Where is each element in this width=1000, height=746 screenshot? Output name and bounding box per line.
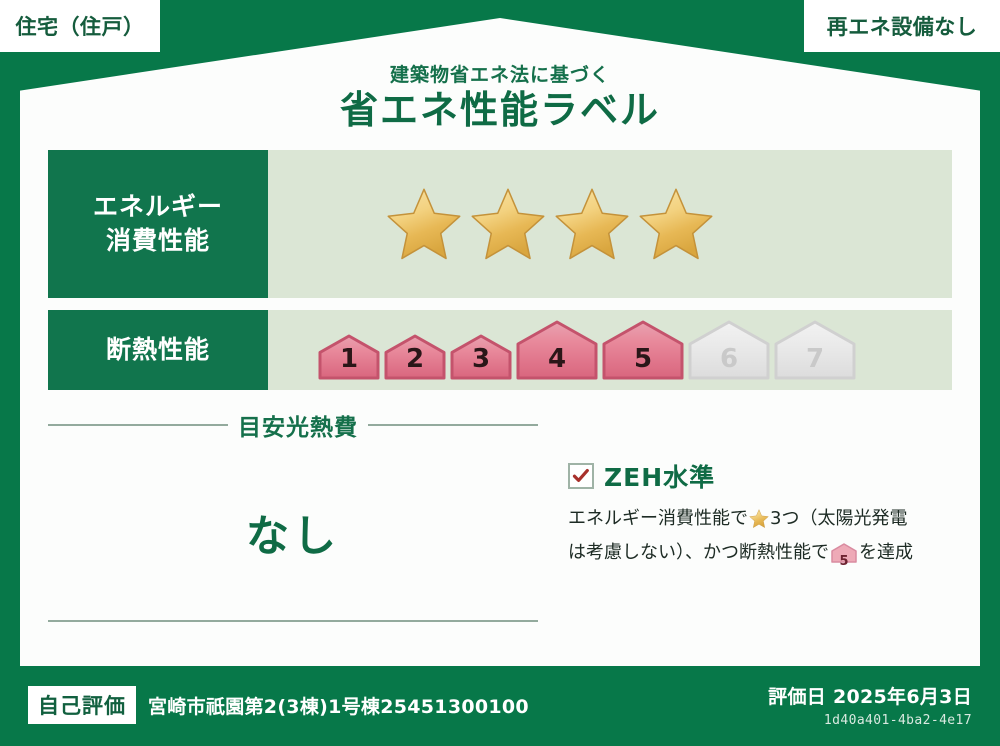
row-energy-label: エネルギー 消費性能 xyxy=(48,150,268,298)
zeh-desc-star-count: 3つ（太陽光発電 xyxy=(770,508,907,529)
title-block: 建築物省エネ法に基づく 省エネ性能ラベル xyxy=(0,60,1000,131)
star-icon xyxy=(638,187,714,261)
tag-building-type: 住宅（住戸） xyxy=(0,0,160,52)
insulation-level-4: 4 xyxy=(516,320,598,380)
insulation-level-label: 7 xyxy=(774,344,856,374)
evaluation-date: 評価日 2025年6月3日 xyxy=(768,682,972,709)
insulation-level-2: 2 xyxy=(384,334,446,380)
self-evaluation-badge: 自己評価 xyxy=(28,686,136,724)
rule-left xyxy=(48,424,228,426)
row-insulation-label-text: 断熱性能 xyxy=(106,333,210,367)
inline-house-badge-label: 5 xyxy=(831,551,857,572)
footer-left: 自己評価 宮崎市祇園第2(3棟)1号棟25451300100 xyxy=(28,686,529,724)
insulation-level-label: 5 xyxy=(602,344,684,374)
energy-label-root: 住宅（住戸） 再エネ設備なし 建築物省エネ法に基づく 省エネ性能ラベル エネルギ… xyxy=(0,0,1000,746)
footer-right: 評価日 2025年6月3日 1d40a401-4ba2-4e17 xyxy=(768,682,972,728)
insulation-level-label: 3 xyxy=(450,344,512,374)
row-insulation-label: 断熱性能 xyxy=(48,310,268,390)
tag-renewable-energy: 再エネ設備なし xyxy=(804,0,1000,52)
zeh-checkbox[interactable] xyxy=(568,463,594,489)
zeh-desc-part3: を達成 xyxy=(859,542,913,563)
row-insulation-value: 1234567 xyxy=(268,310,952,390)
inline-house-badge: 5 xyxy=(831,543,857,573)
zeh-description: エネルギー消費性能で3つ（太陽光発電 は考慮しない）、かつ断熱性能で5を達成 xyxy=(568,504,952,572)
row-insulation: 断熱性能 1234567 xyxy=(48,310,952,390)
insulation-level-label: 1 xyxy=(318,344,380,374)
star-icon xyxy=(386,187,462,261)
insulation-level-6: 6 xyxy=(688,320,770,380)
zeh-header: ZEH水準 xyxy=(568,458,952,494)
star-rating xyxy=(268,187,714,261)
utility-cost-title: 目安光熱費 xyxy=(238,408,358,442)
insulation-level-3: 3 xyxy=(450,334,512,380)
inline-star-icon xyxy=(749,512,769,533)
footer: 自己評価 宮崎市祇園第2(3棟)1号棟25451300100 評価日 2025年… xyxy=(0,668,1000,746)
utility-cost-block: 目安光熱費 なし xyxy=(48,400,538,630)
row-energy-consumption: エネルギー 消費性能 xyxy=(48,150,952,298)
lower-section: 目安光熱費 なし ZEH水準 エネルギー消費性能で3つ（太陽光発電 は考慮しない… xyxy=(48,400,952,630)
insulation-level-scale: 1234567 xyxy=(268,320,856,380)
row-energy-label-line1: エネルギー xyxy=(93,190,223,224)
row-energy-label-line2: 消費性能 xyxy=(106,224,210,258)
utility-cost-header: 目安光熱費 xyxy=(48,408,538,442)
zeh-title: ZEH水準 xyxy=(604,458,715,494)
insulation-level-label: 2 xyxy=(384,344,446,374)
star-icon xyxy=(470,187,546,261)
rule-bottom xyxy=(48,620,538,622)
zeh-desc-part2: は考慮しない）、かつ断熱性能で xyxy=(568,542,829,563)
zeh-desc-part1: エネルギー消費性能で xyxy=(568,508,748,529)
insulation-level-label: 6 xyxy=(688,344,770,374)
insulation-level-7: 7 xyxy=(774,320,856,380)
zeh-block: ZEH水準 エネルギー消費性能で3つ（太陽光発電 は考慮しない）、かつ断熱性能で… xyxy=(538,400,952,630)
check-icon xyxy=(572,467,590,485)
utility-cost-value: なし xyxy=(48,502,538,564)
insulation-level-1: 1 xyxy=(318,334,380,380)
insulation-level-5: 5 xyxy=(602,320,684,380)
rule-right xyxy=(368,424,538,426)
title-subtitle: 建築物省エネ法に基づく xyxy=(0,60,1000,87)
document-id: 1d40a401-4ba2-4e17 xyxy=(768,713,972,728)
property-address: 宮崎市祇園第2(3棟)1号棟25451300100 xyxy=(148,692,529,719)
performance-table: エネルギー 消費性能 断熱性能 1234567 xyxy=(48,150,952,390)
title-main: 省エネ性能ラベル xyxy=(0,91,1000,131)
star-icon xyxy=(554,187,630,261)
insulation-level-label: 4 xyxy=(516,344,598,374)
row-energy-value xyxy=(268,150,952,298)
